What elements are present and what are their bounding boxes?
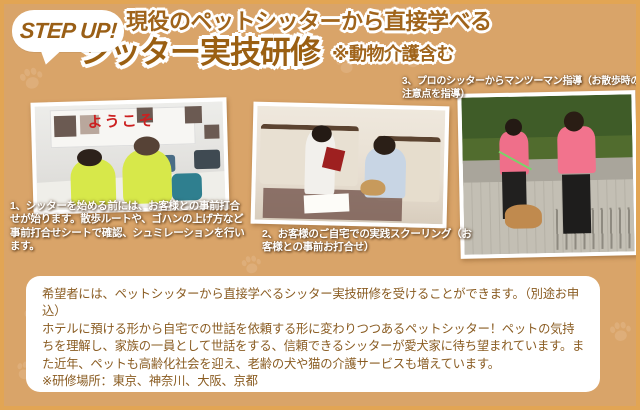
description-panel: 希望者には、ペットシッターから直接学べるシッター実技研修を受けることができます。… <box>26 276 600 392</box>
photo-dog-walking <box>457 90 638 259</box>
photo-meeting: ようこそ <box>30 97 229 214</box>
description-paragraph-2: ホテルに預ける形から自宅での世話を依頼する形に変わりつつあるペットシッター！ペッ… <box>42 321 586 373</box>
headline-note: ※動物介護含む <box>332 40 454 66</box>
poster-text: ようこそ <box>87 110 156 133</box>
description-paragraph-1: 希望者には、ペットシッターから直接学べるシッター実技研修を受けることができます。… <box>42 286 586 321</box>
photo-caption-2: 2、お客様のご自宅での実践スクーリング（お客様との事前お打合せ） <box>262 228 472 255</box>
headline-line-1: 現役のペットシッターから直接学べる <box>126 9 546 34</box>
paw-print-icon <box>15 63 48 96</box>
description-paragraph-3: ※研修場所：東京、神奈川、大阪、京都 <box>42 373 586 390</box>
photo-caption-1: 1、シッターを始める前には、お客様との事前打合せが始ります。散歩ルートや、ゴハン… <box>10 200 248 254</box>
paw-print-icon <box>238 252 265 279</box>
step-up-banner: STEP UP! 現役のペットシッターから直接学べる シッター実技研修 ※動物介… <box>0 0 640 410</box>
step-up-bubble: STEP UP! <box>12 10 124 52</box>
photo-home-visit <box>251 102 450 229</box>
headline-group: 現役のペットシッターから直接学べる シッター実技研修 ※動物介護含む <box>126 9 546 70</box>
bubble-tail <box>37 46 62 66</box>
paw-print-icon <box>606 318 634 346</box>
step-up-label: STEP UP! <box>19 18 117 44</box>
photo-caption-3: 3、プロのシッターからマンツーマン指導（お散歩時の注意点を指導） <box>402 76 640 102</box>
